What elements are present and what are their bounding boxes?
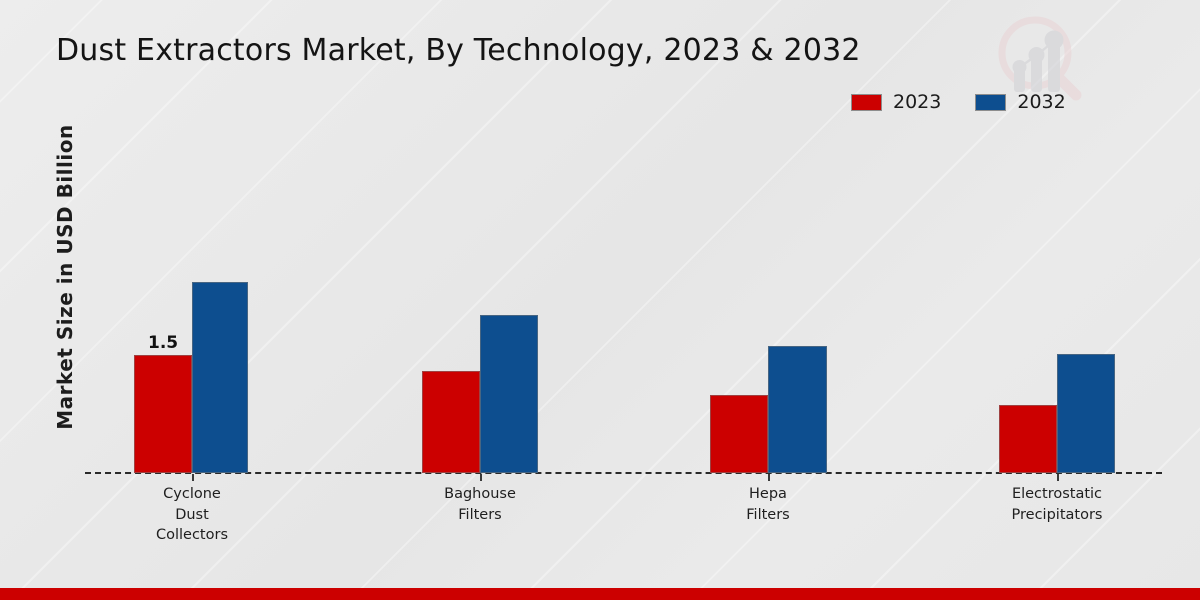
bar-2032-hepa-filters[interactable] <box>768 346 827 473</box>
bar-2023-hepa-filters[interactable] <box>710 395 768 473</box>
x-tick-line: Precipitators <box>1012 505 1103 526</box>
bar-2023-baghouse-filters[interactable] <box>422 371 480 473</box>
bar-group-electrostatic-precipitators <box>999 133 1115 473</box>
chart-container: Dust Extractors Market, By Technology, 2… <box>0 0 1200 600</box>
bar-group-hepa-filters <box>710 133 827 473</box>
bar-2032-baghouse-filters[interactable] <box>480 315 538 473</box>
bar-2032-electrostatic-precipitators[interactable] <box>1057 354 1115 473</box>
x-tick-line: Electrostatic <box>1012 484 1103 505</box>
x-tick-line: Collectors <box>156 525 228 546</box>
x-tick-line: Dust <box>156 505 228 526</box>
bar-2032-cyclone-dust-collectors[interactable] <box>192 282 248 473</box>
bar-group-cyclone-dust-collectors: 1.5 <box>134 133 248 473</box>
x-tick-line: Filters <box>746 505 789 526</box>
x-tick-line: Baghouse <box>444 484 516 505</box>
x-axis-tick-3 <box>768 474 770 481</box>
x-axis-tick-1 <box>192 474 194 481</box>
x-tick-line: Cyclone <box>156 484 228 505</box>
bar-value-label-2023-cyclone: 1.5 <box>148 333 178 353</box>
x-tick-line: Hepa <box>746 484 789 505</box>
x-tick-label-cyclone-dust-collectors: Cyclone Dust Collectors <box>156 484 228 546</box>
bar-2023-electrostatic-precipitators[interactable] <box>999 405 1057 473</box>
x-tick-label-electrostatic-precipitators: Electrostatic Precipitators <box>1012 484 1103 525</box>
x-tick-line: Filters <box>444 505 516 526</box>
plot-area: 1.5 Cyclone Dust Collectors Baghou <box>0 0 1200 560</box>
x-axis-tick-4 <box>1057 474 1059 481</box>
bar-group-baghouse-filters <box>422 133 538 473</box>
x-tick-label-baghouse-filters: Baghouse Filters <box>444 484 516 525</box>
footer-accent-bar <box>0 588 1200 600</box>
x-tick-label-hepa-filters: Hepa Filters <box>746 484 789 525</box>
x-axis-tick-2 <box>480 474 482 481</box>
bar-2023-cyclone-dust-collectors[interactable] <box>134 355 192 473</box>
